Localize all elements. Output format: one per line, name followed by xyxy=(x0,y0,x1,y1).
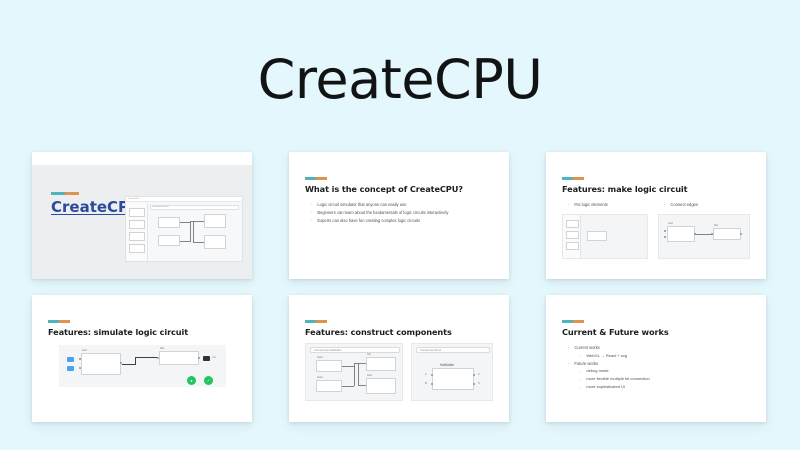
slide-top-band xyxy=(32,152,252,165)
port-label-s: S xyxy=(478,382,480,385)
palette-sidebar xyxy=(126,203,148,261)
port-label-b: B xyxy=(425,382,427,385)
slide-heading: Features: make logic circuit xyxy=(562,184,687,194)
component-selector[interactable]: Component Root xyxy=(416,347,490,353)
list-item-label: Experts can also have fun creating compl… xyxy=(317,218,420,224)
editor-screenshot: CreateCPU Component Root xyxy=(125,196,243,262)
list-item: - WebGL → React + svg xyxy=(580,353,650,359)
bullet-dash-icon: - xyxy=(580,376,581,382)
bullet-dash-icon: - xyxy=(311,210,312,216)
list-item-label: more flexible multiple bit connection xyxy=(586,376,649,382)
list-item: - debug mode xyxy=(580,368,650,374)
slide-construct-content: Features: construct components Component… xyxy=(289,295,509,422)
accent-bar-icon xyxy=(305,177,327,180)
list-item-label: Beginners can learn about the fundamenta… xyxy=(317,210,448,216)
connected-gates-figure: And Not xyxy=(658,214,750,259)
port-label-c: C xyxy=(478,373,480,376)
list-item: - Current works xyxy=(568,345,650,351)
list-item-label: debug mode xyxy=(586,368,608,374)
output-label: Out xyxy=(212,356,216,359)
bullet-dash-icon: - xyxy=(311,218,312,224)
bullet-dash-icon: - xyxy=(311,202,312,208)
accent-bar-icon xyxy=(562,177,584,180)
bullet-dash-icon: - xyxy=(580,368,581,374)
component-selector[interactable]: Component HalfAdder xyxy=(310,347,400,353)
component-name-label: HalfAdder xyxy=(440,363,454,367)
bullet-dash-icon: - xyxy=(568,345,569,351)
slide-simulate-content: Features: simulate logic circuit - - And xyxy=(32,295,252,422)
slide-card-simulate-logic-circuit[interactable]: Features: simulate logic circuit - - And xyxy=(32,295,252,422)
bullet-list: - Logic circuit simulator that anyone ca… xyxy=(311,202,448,226)
accent-bar-icon xyxy=(562,320,584,323)
presentation-overview-page: CreateCPU CreateCPU CreateCPU xyxy=(0,0,800,450)
canvas-node xyxy=(158,217,180,228)
slide-body: CreateCPU CreateCPU Component Root xyxy=(32,165,252,279)
list-item-label: more sophisticated UI xyxy=(586,384,625,390)
canvas-node xyxy=(158,235,180,246)
input-toggle[interactable] xyxy=(67,357,74,362)
slide-card-construct-components[interactable]: Features: construct components Component… xyxy=(289,295,509,422)
list-item-label: WebGL → React + svg xyxy=(586,353,627,359)
list-item-label: Connect edges xyxy=(670,202,698,208)
list-item: - more sophisticated UI xyxy=(580,384,650,390)
list-item: - Put logic elements xyxy=(568,202,608,208)
slide-heading: Features: simulate logic circuit xyxy=(48,327,188,337)
slide-card-make-logic-circuit[interactable]: Features: make logic circuit - Put logic… xyxy=(546,152,766,279)
port-label-a: A xyxy=(425,373,427,376)
list-item-label: Current works xyxy=(574,345,599,351)
bullet-dash-icon: - xyxy=(664,202,665,208)
gate-not xyxy=(159,351,199,365)
accent-bar-icon xyxy=(305,320,327,323)
gate-and xyxy=(81,353,121,375)
list-item: - Logic circuit simulator that anyone ca… xyxy=(311,202,448,208)
list-item: - Beginners can learn about the fundamen… xyxy=(311,210,448,216)
canvas-node xyxy=(204,214,226,228)
component-preview-panel: Component Root HalfAdder A B C S xyxy=(411,343,493,401)
component-selector-label: Component HalfAdder xyxy=(314,348,342,352)
list-item: - Connect edges xyxy=(664,202,698,208)
step-simulation-button[interactable]: ✓ xyxy=(204,376,213,385)
canvas-node xyxy=(204,235,226,249)
accent-bar-icon xyxy=(51,192,79,195)
bullet-dash-icon: - xyxy=(568,361,569,367)
slide-card-concept[interactable]: What is the concept of CreateCPU? - Logi… xyxy=(289,152,509,279)
simulation-figure: - - And Not Out ● xyxy=(59,345,226,387)
component-selector-label: Component Root xyxy=(420,348,441,352)
slide-concept-content: What is the concept of CreateCPU? - Logi… xyxy=(289,152,509,279)
bullet-list: - Current works - WebGL → React + svg - … xyxy=(568,345,650,391)
list-item-label: Put logic elements xyxy=(574,202,607,208)
list-item-label: Future works xyxy=(574,361,598,367)
slide-heading: Current & Future works xyxy=(562,327,669,337)
list-item: - Experts can also have fun creating com… xyxy=(311,218,448,224)
slide-heading: What is the concept of CreateCPU? xyxy=(305,184,463,194)
slide-card-title[interactable]: CreateCPU CreateCPU Component Root xyxy=(32,152,252,279)
list-item: - more flexible multiple bit connection xyxy=(580,376,650,382)
accent-bar-icon xyxy=(48,320,70,323)
bullet-dash-icon: - xyxy=(568,202,569,208)
slide-make-content: Features: make logic circuit - Put logic… xyxy=(546,152,766,279)
list-item-label: Logic circuit simulator that anyone can … xyxy=(317,202,406,208)
slide-card-current-future-works[interactable]: Current & Future works - Current works -… xyxy=(546,295,766,422)
slide-title-content: CreateCPU CreateCPU Component Root xyxy=(32,152,252,279)
output-indicator xyxy=(203,356,210,361)
component-editor-panel: Component HalfAdder Input Input Xor And xyxy=(305,343,403,401)
slide-works-content: Current & Future works - Current works -… xyxy=(546,295,766,422)
page-title: CreateCPU xyxy=(0,48,800,111)
element-palette-figure xyxy=(562,214,648,259)
input-toggle[interactable] xyxy=(67,366,74,371)
list-item: - Future works xyxy=(568,361,650,367)
slide-grid: CreateCPU CreateCPU Component Root xyxy=(32,152,768,422)
bullet-dash-icon: - xyxy=(580,384,581,390)
bullet-dash-icon: - xyxy=(580,353,581,359)
slide-heading: Features: construct components xyxy=(305,327,452,337)
halfadder-box xyxy=(432,368,474,390)
run-simulation-button[interactable]: ● xyxy=(187,376,196,385)
